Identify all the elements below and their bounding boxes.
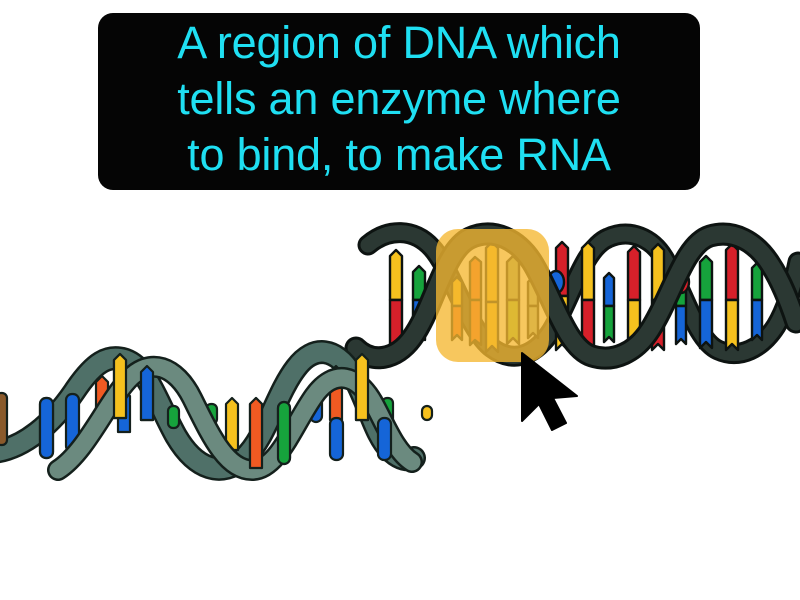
definition-line-2: tells an enzyme where <box>177 71 621 127</box>
helix-base-pairs <box>390 242 762 352</box>
helix-backbone-front <box>356 234 796 358</box>
rna-bases <box>0 354 432 468</box>
promoter-region-highlight <box>436 229 549 362</box>
rna-bases-front <box>40 354 391 468</box>
mouse-cursor-arrow <box>522 353 577 430</box>
dna-double-helix <box>356 233 798 358</box>
rna-single-strand <box>0 352 432 470</box>
definition-banner: A region of DNA which tells an enzyme wh… <box>98 13 700 190</box>
helix-backbone-back <box>368 233 798 357</box>
definition-line-3: to bind, to make RNA <box>187 127 611 183</box>
definition-card: A region of DNA which tells an enzyme wh… <box>0 0 800 600</box>
definition-line-1: A region of DNA which <box>177 15 621 71</box>
